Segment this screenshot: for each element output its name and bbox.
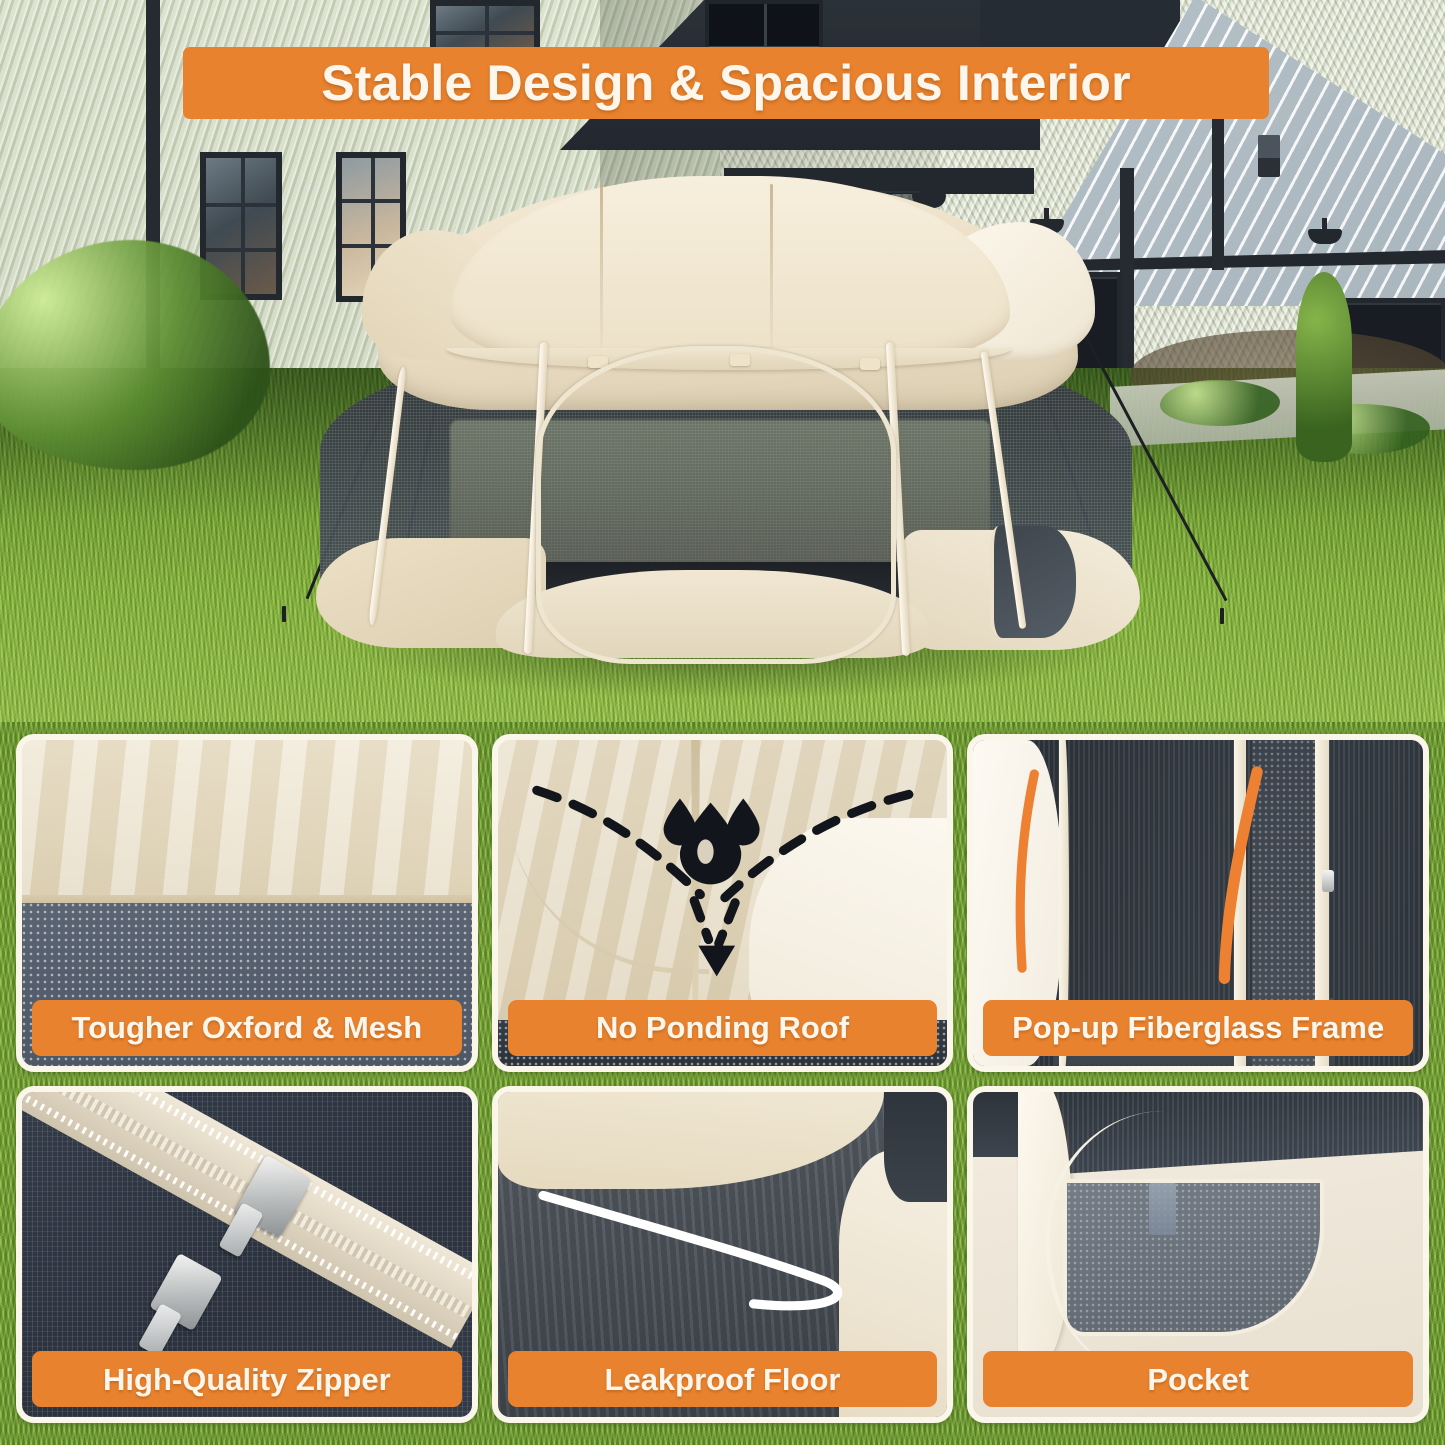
- stake-left-outer: [282, 606, 286, 622]
- zipper-slider-icon: [1322, 870, 1334, 892]
- water-drop-small-left-icon: [663, 799, 696, 846]
- feature-label-fiberglass-frame: Pop-up Fiberglass Frame: [983, 1000, 1413, 1056]
- feature-label-text: No Ponding Roof: [596, 1012, 849, 1043]
- product-infographic: Stable Design & Spacious Interior Toughe…: [0, 0, 1445, 1445]
- water-drop-highlight-icon: [697, 839, 713, 864]
- side-window-flap: [990, 526, 1076, 638]
- feature-card-high-quality-zipper[interactable]: High-Quality Zipper: [16, 1086, 478, 1424]
- feature-label-leakproof-floor: Leakproof Floor: [508, 1351, 938, 1407]
- canopy-seam-2: [770, 184, 773, 364]
- down-arrow-icon: [698, 946, 735, 977]
- topiary-shrub: [1296, 272, 1352, 462]
- dashed-flow-right-icon: [725, 794, 909, 897]
- white-curve-highlight-icon: [543, 1195, 838, 1305]
- pop-up-screen-tent: [300, 170, 1150, 690]
- feature-label-oxford-mesh: Tougher Oxford & Mesh: [32, 1000, 462, 1056]
- dashed-flow-down-left-icon: [694, 901, 708, 940]
- gable-vent: [1258, 135, 1280, 177]
- oxford-fabric-swatch: [22, 740, 472, 903]
- hero-title-banner: Stable Design & Spacious Interior: [183, 47, 1269, 119]
- water-drop-small-right-icon: [727, 799, 760, 846]
- canopy-tab-3: [860, 358, 880, 370]
- feature-label-text: Pop-up Fiberglass Frame: [1012, 1012, 1384, 1043]
- feature-label-text: Pocket: [1147, 1364, 1249, 1395]
- orange-pole-highlight-right-icon: [1225, 772, 1258, 978]
- feature-card-pop-up-fiberglass-frame[interactable]: Pop-up Fiberglass Frame: [967, 734, 1429, 1072]
- door-opening: [536, 346, 896, 664]
- orange-pole-highlight-left-icon: [1021, 774, 1035, 968]
- canopy-seam-1: [600, 184, 603, 364]
- dashed-flow-down-right-icon: [718, 903, 734, 944]
- wall-sconce-3: [1308, 218, 1342, 248]
- feature-card-tougher-oxford-mesh[interactable]: Tougher Oxford & Mesh: [16, 734, 478, 1072]
- hero-title-text: Stable Design & Spacious Interior: [321, 58, 1131, 108]
- stake-right-outer: [1220, 608, 1224, 624]
- hedge-1: [1160, 380, 1280, 426]
- feature-label-text: Leakproof Floor: [605, 1364, 841, 1395]
- feature-grid: Tougher Oxford & Mesh: [0, 722, 1445, 1445]
- feature-label-zipper: High-Quality Zipper: [32, 1351, 462, 1407]
- wall-trim-4: [1212, 110, 1224, 270]
- pocket-tag: [1149, 1183, 1176, 1235]
- feature-card-pocket[interactable]: Pocket: [967, 1086, 1429, 1424]
- feature-label-text: High-Quality Zipper: [103, 1364, 391, 1395]
- feature-card-leakproof-floor[interactable]: Leakproof Floor: [492, 1086, 954, 1424]
- feature-label-no-ponding-roof: No Ponding Roof: [508, 1000, 938, 1056]
- feature-label-pocket: Pocket: [983, 1351, 1413, 1407]
- feature-card-no-ponding-roof[interactable]: No Ponding Roof: [492, 734, 954, 1072]
- feature-label-text: Tougher Oxford & Mesh: [71, 1012, 422, 1043]
- hero-image: Stable Design & Spacious Interior: [0, 0, 1445, 722]
